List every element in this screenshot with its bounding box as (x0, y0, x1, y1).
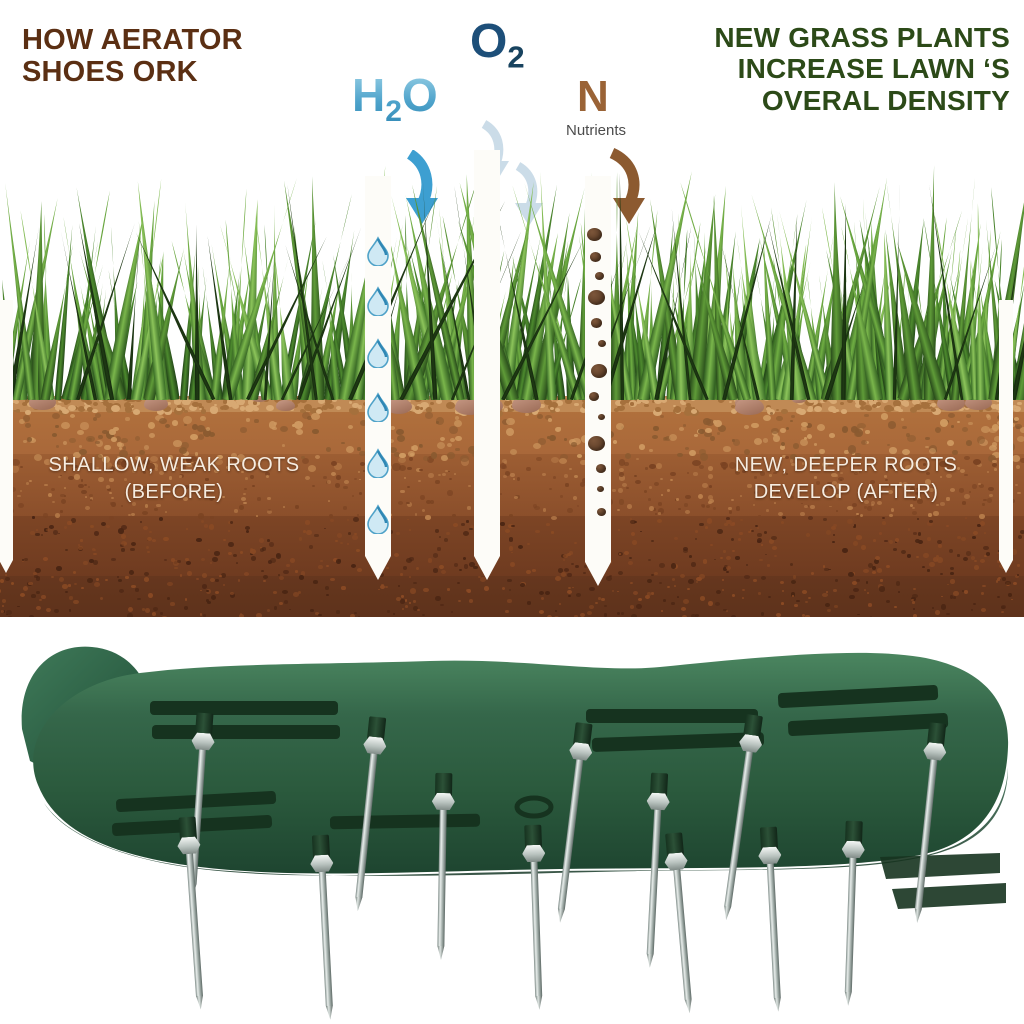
soil-speckle (447, 443, 452, 447)
soil-speckle (293, 592, 299, 597)
soil-speckle (973, 603, 976, 606)
soil-speckle (449, 426, 457, 434)
soil-speckle (619, 553, 621, 555)
soil-speckle (678, 508, 681, 510)
soil-speckle (418, 480, 421, 482)
soil-speckle (842, 548, 848, 553)
soil-speckle (826, 530, 832, 536)
soil-speckle (551, 516, 557, 520)
soil-speckle (549, 488, 552, 490)
soil-speckle (761, 576, 766, 580)
soil-speckle (804, 437, 808, 440)
soil-speckle (647, 579, 652, 583)
soil-speckle (210, 562, 213, 564)
soil-speckle (872, 571, 876, 574)
soil-crumb (111, 405, 120, 412)
soil-speckle (441, 570, 446, 574)
soil-speckle (1012, 455, 1020, 461)
soil-speckle (1001, 611, 1004, 613)
soil-speckle (131, 585, 135, 588)
soil-speckle (279, 576, 284, 580)
soil-speckle (341, 586, 346, 589)
soil-speckle (105, 579, 108, 581)
soil-speckle (738, 538, 741, 541)
soil-speckle (299, 537, 303, 541)
soil-speckle (385, 586, 388, 588)
soil-speckle (832, 541, 836, 544)
soil-speckle (165, 424, 170, 428)
soil-speckle (612, 489, 616, 492)
soil-speckle (509, 589, 511, 591)
soil-speckle (1017, 574, 1020, 576)
soil-speckle (335, 483, 340, 488)
soil-speckle (763, 415, 771, 421)
soil-speckle (409, 576, 412, 578)
soil-speckle (201, 520, 204, 523)
soil-speckle (601, 598, 605, 601)
soil-speckle (430, 500, 434, 504)
soil-speckle (617, 612, 620, 615)
water-droplet-icon (366, 392, 390, 422)
soil-speckle (403, 566, 408, 570)
nutrient-pellet (590, 252, 601, 262)
soil-speckle (526, 570, 531, 574)
soil-speckle (806, 533, 810, 537)
soil-speckle (354, 478, 357, 480)
soil-speckle (814, 443, 818, 446)
soil-speckle (624, 462, 629, 467)
soil-speckle (135, 588, 139, 591)
soil-speckle (74, 583, 77, 585)
nitrogen-symbol-label: N (577, 72, 609, 122)
soil-speckle (125, 576, 128, 578)
soil-speckle (736, 506, 741, 510)
edge-channel-left (0, 300, 13, 560)
soil-speckle (442, 473, 446, 476)
soil-speckle (469, 599, 473, 603)
soil-speckle (215, 579, 218, 582)
soil-speckle (532, 569, 536, 572)
soil-speckle (358, 471, 361, 473)
soil-speckle (853, 588, 859, 592)
soil-speckle (78, 546, 83, 550)
soil-speckle (802, 590, 808, 594)
soil-speckle (239, 505, 244, 510)
soil-speckle (811, 572, 814, 575)
soil-speckle (685, 447, 689, 450)
soil-speckle (128, 514, 131, 516)
soil-speckle (131, 513, 136, 517)
soil-speckle (36, 591, 39, 594)
soil-speckle (400, 490, 404, 494)
soil-speckle (444, 538, 448, 542)
soil-speckle (400, 573, 403, 575)
soil-crumb (308, 409, 311, 412)
soil-speckle (159, 517, 163, 521)
soil-speckle (428, 473, 433, 478)
soil-speckle (551, 457, 559, 463)
soil-speckle (117, 442, 122, 446)
water-formula-label: H2O (352, 68, 438, 129)
soil-speckle (948, 413, 955, 418)
soil-crumb (350, 408, 359, 415)
soil-speckle (357, 514, 359, 516)
soil-speckle (167, 597, 170, 600)
soil-speckle (537, 414, 543, 419)
soil-speckle (80, 539, 83, 541)
soil-speckle (781, 442, 785, 446)
soil-speckle (407, 486, 410, 488)
soil-speckle (857, 614, 860, 616)
soil-speckle (849, 595, 854, 600)
soil-crumb (504, 408, 508, 411)
soil-speckle (2, 599, 6, 603)
soil-speckle (564, 438, 567, 441)
soil-speckle (535, 530, 539, 533)
soil-speckle (655, 513, 657, 515)
soil-speckle (449, 478, 452, 481)
soil-speckle (595, 602, 597, 604)
soil-speckle (129, 570, 134, 575)
soil-speckle (941, 596, 943, 598)
soil-speckle (54, 609, 60, 614)
soil-speckle (43, 513, 48, 517)
soil-speckle (645, 595, 649, 599)
soil-speckle (639, 444, 646, 450)
soil-speckle (889, 514, 893, 517)
soil-speckle (348, 425, 354, 430)
soil-speckle (698, 429, 704, 435)
soil-speckle (326, 565, 329, 567)
soil-speckle (780, 445, 786, 450)
soil-speckle (65, 591, 68, 594)
soil-speckle (759, 559, 762, 561)
soil-speckle (273, 591, 277, 594)
soil-speckle (394, 553, 399, 557)
soil-speckle (571, 563, 575, 566)
soil-speckle (240, 427, 247, 432)
soil-speckle (660, 478, 663, 480)
soil-speckle (121, 548, 126, 552)
soil-speckle (912, 594, 917, 598)
soil-speckle (653, 426, 658, 431)
soil-rock (276, 400, 294, 411)
soil-speckle (860, 514, 863, 517)
soil-speckle (786, 427, 789, 430)
soil-speckle (435, 480, 439, 484)
soil-speckle (94, 582, 100, 587)
soil-crumb (86, 400, 92, 405)
soil-speckle (121, 534, 126, 539)
soil-speckle (415, 513, 417, 515)
soil-speckle (186, 528, 188, 530)
soil-speckle (925, 437, 929, 440)
soil-speckle (454, 473, 456, 475)
soil-speckle (567, 508, 573, 514)
soil-speckle (555, 610, 557, 612)
soil-speckle (233, 554, 237, 557)
soil-speckle (864, 589, 866, 591)
soil-speckle (720, 557, 723, 559)
soil-speckle (879, 532, 882, 535)
soil-speckle (352, 495, 354, 497)
soil-speckle (891, 508, 894, 511)
soil-speckle (397, 435, 405, 442)
soil-speckle (152, 612, 157, 616)
soil-speckle (159, 418, 167, 424)
soil-speckle (185, 598, 188, 600)
soil-speckle (726, 610, 729, 612)
soil-speckle (61, 422, 70, 429)
soil-speckle (312, 429, 319, 434)
soil-speckle (875, 556, 880, 560)
soil-speckle (1017, 436, 1024, 442)
soil-speckle (873, 539, 876, 541)
soil-speckle (282, 590, 288, 594)
soil-speckle (626, 487, 629, 489)
soil-speckle (776, 416, 783, 422)
soil-speckle (882, 521, 886, 525)
soil-speckle (174, 567, 178, 570)
soil-speckle (117, 576, 119, 577)
soil-speckle (420, 495, 425, 500)
soil-speckle (864, 414, 868, 417)
soil-speckle (1001, 606, 1004, 609)
soil-speckle (509, 537, 513, 541)
soil-speckle (90, 525, 94, 528)
soil-speckle (980, 521, 985, 526)
soil-speckle (918, 532, 922, 536)
soil-speckle (439, 536, 441, 538)
soil-speckle (923, 553, 928, 558)
vent-slot (152, 725, 340, 739)
soil-speckle (125, 417, 130, 422)
soil-speckle (901, 418, 905, 421)
soil-crumb (931, 403, 935, 406)
oxygen-formula-label: O2 (470, 14, 525, 76)
soil-speckle (553, 476, 556, 479)
soil-crumb (729, 401, 732, 404)
soil-speckle (630, 520, 635, 524)
soil-speckle (726, 556, 731, 560)
soil-speckle (790, 563, 793, 566)
soil-speckle (245, 526, 250, 530)
soil-speckle (938, 544, 942, 548)
soil-speckle (966, 440, 973, 446)
soil-speckle (981, 608, 986, 612)
soil-speckle (825, 603, 830, 607)
soil-speckle (201, 558, 205, 561)
soil-crumb (914, 404, 922, 411)
soil-crumb (131, 405, 134, 408)
soil-speckle (710, 436, 715, 441)
soil-speckle (589, 587, 594, 591)
soil-speckle (696, 577, 702, 581)
soil-speckle (940, 419, 948, 427)
soil-speckle (913, 588, 916, 590)
soil-speckle (56, 566, 62, 570)
soil-speckle (928, 513, 933, 517)
soil-speckle (937, 557, 943, 562)
soil-speckle (757, 533, 761, 537)
soil-speckle (672, 578, 675, 581)
soil-speckle (318, 565, 323, 570)
soil-speckle (196, 538, 201, 542)
soil-crumb (555, 408, 560, 412)
soil-crumb (68, 405, 76, 411)
soil-rock (735, 398, 763, 416)
soil-speckle (927, 569, 930, 571)
soil-speckle (70, 414, 76, 418)
soil-speckle (895, 538, 899, 542)
soil-crumb (336, 406, 342, 410)
soil-speckle (425, 515, 430, 519)
soil-crumb (240, 406, 245, 410)
soil-speckle (659, 582, 661, 584)
soil-speckle (41, 595, 46, 599)
soil-speckle (663, 599, 667, 603)
soil-speckle (343, 506, 347, 509)
soil-speckle (753, 579, 757, 582)
soil-speckle (761, 544, 763, 546)
soil-speckle (674, 585, 676, 587)
soil-speckle (354, 612, 357, 614)
vent-slot (150, 701, 338, 715)
soil-speckle (406, 558, 412, 563)
soil-speckle (916, 556, 919, 558)
soil-speckle (794, 604, 798, 607)
soil-speckle (852, 581, 857, 585)
soil-speckle (223, 539, 226, 541)
soil-speckle (36, 606, 41, 610)
soil-speckle (68, 584, 71, 586)
soil-speckle (289, 609, 291, 611)
oxygen-channel-tip (474, 556, 500, 580)
soil-speckle (507, 599, 511, 603)
soil-speckle (410, 453, 413, 456)
soil-speckle (215, 591, 219, 594)
soil-speckle (726, 571, 729, 573)
soil-speckle (177, 560, 181, 564)
soil-speckle (780, 581, 784, 584)
soil-speckle (793, 443, 800, 449)
soil-speckle (877, 568, 882, 572)
soil-speckle (1002, 577, 1006, 581)
soil-speckle (957, 421, 960, 424)
soil-speckle (670, 479, 673, 481)
soil-speckle (888, 421, 897, 429)
soil-speckle (36, 529, 38, 531)
soil-speckle (69, 596, 73, 599)
soil-speckle (957, 554, 960, 557)
soil-speckle (823, 518, 827, 521)
soil-crumb (876, 402, 880, 405)
soil-crumb (62, 409, 68, 414)
soil-crumb (644, 404, 648, 408)
soil-speckle (618, 571, 623, 575)
soil-speckle (618, 529, 620, 531)
soil-speckle (911, 599, 913, 601)
soil-speckle (83, 561, 88, 565)
soil-speckle (359, 479, 361, 481)
soil-speckle (717, 529, 723, 535)
soil-speckle (60, 510, 63, 512)
soil-speckle (39, 599, 42, 601)
soil-speckle (1005, 581, 1011, 585)
soil-speckle (800, 512, 805, 516)
soil-speckle (135, 436, 140, 441)
soil-speckle (269, 542, 274, 547)
soil-speckle (744, 425, 749, 429)
soil-speckle (722, 589, 724, 591)
soil-speckle (848, 572, 853, 577)
soil-speckle (1017, 492, 1021, 495)
soil-speckle (140, 521, 142, 523)
soil-speckle (758, 592, 761, 594)
soil-speckle (632, 540, 637, 544)
soil-speckle (210, 516, 214, 520)
soil-speckle (807, 434, 812, 439)
soil-speckle (716, 590, 721, 594)
strap-rib-1 (880, 853, 1000, 879)
soil-speckle (503, 475, 507, 478)
soil-speckle (893, 548, 897, 551)
soil-crumb (1017, 402, 1022, 406)
soil-speckle (154, 508, 158, 511)
soil-speckle (773, 435, 779, 441)
soil-speckle (572, 587, 574, 589)
soil-speckle (211, 595, 216, 600)
soil-crumb (841, 409, 847, 414)
soil-speckle (65, 549, 67, 551)
soil-speckle (929, 562, 934, 567)
soil-speckle (763, 438, 769, 442)
soil-speckle (771, 536, 777, 541)
soil-speckle (577, 505, 579, 507)
soil-crumb (14, 400, 19, 404)
soil-speckle (144, 445, 149, 450)
nutrient-pellet (595, 272, 604, 280)
soil-speckle (619, 472, 625, 477)
soil-speckle (660, 415, 664, 418)
soil-speckle (167, 582, 172, 586)
soil-speckle (761, 612, 765, 616)
soil-speckle (770, 412, 773, 415)
soil-crumb (93, 402, 98, 406)
soil-speckle (886, 600, 891, 604)
soil-speckle (32, 516, 34, 518)
soil-speckle (640, 531, 642, 533)
soil-speckle (23, 415, 30, 421)
soil-speckle (238, 579, 240, 581)
headline-how-aerator-shoes-work: HOW AERATOR SHOES ORK (22, 24, 322, 89)
soil-speckle (628, 561, 633, 565)
soil-speckle (548, 418, 552, 422)
soil-speckle (912, 507, 914, 509)
soil-speckle (336, 475, 341, 479)
soil-speckle (723, 550, 725, 552)
soil-speckle (679, 427, 685, 431)
soil-speckle (972, 536, 976, 540)
soil-crumb (184, 410, 188, 413)
soil-speckle (428, 558, 433, 563)
soil-speckle (767, 564, 771, 567)
soil-speckle (96, 578, 99, 581)
soil-speckle (732, 439, 735, 441)
soil-speckle (22, 559, 24, 561)
soil-speckle (145, 608, 150, 613)
nutrients-caption: Nutrients (566, 122, 626, 139)
